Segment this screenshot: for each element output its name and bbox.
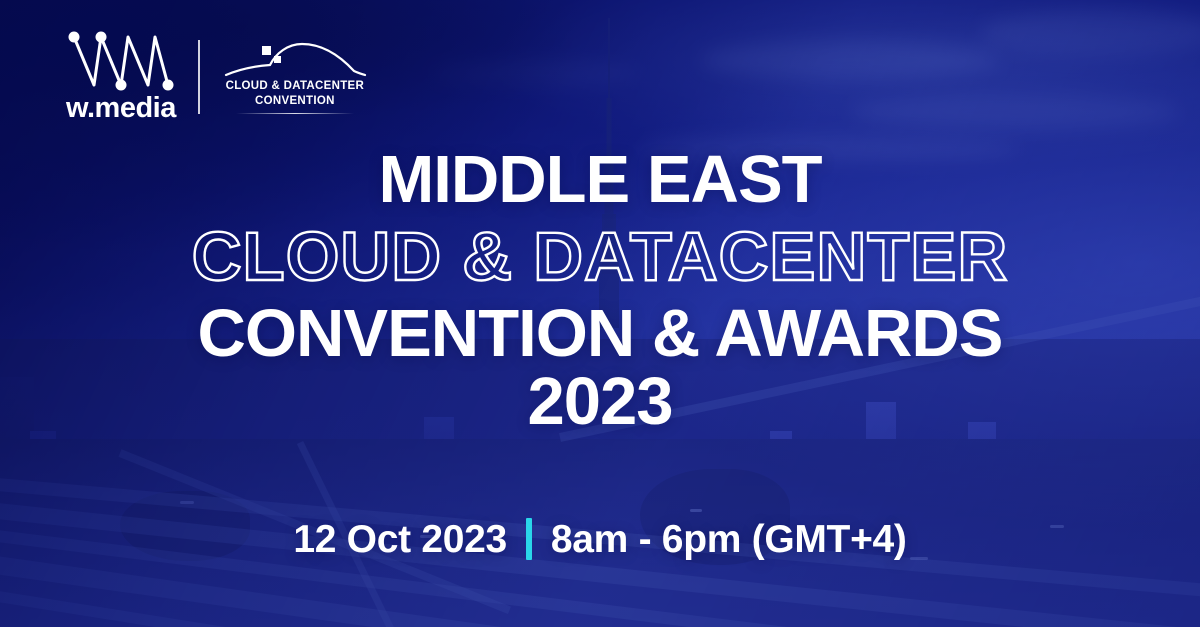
wave-signal-logo-icon (67, 30, 175, 92)
event-time: 8am - 6pm (GMT+4) (551, 520, 907, 559)
convention-logo-rule (236, 113, 354, 114)
convention-logo-line1: CLOUD & DATACENTER (226, 79, 365, 93)
hero-title-block: MIDDLE EAST CLOUD & DATACENTER CONVENTIO… (0, 147, 1200, 436)
datetime-separator-bar (526, 518, 532, 560)
event-datetime-row: 12 Oct 2023 8am - 6pm (GMT+4) (0, 518, 1200, 560)
hero-line-1: MIDDLE EAST (0, 147, 1200, 213)
event-date: 12 Oct 2023 (293, 520, 507, 559)
wmedia-wordmark: w.media (66, 94, 176, 123)
event-banner: w.media CLOUD & DATACENTER CONVENTION MI… (0, 0, 1200, 627)
hero-line-2-outlined: CLOUD & DATACENTER (0, 221, 1200, 293)
convention-logo-line2: CONVENTION (255, 94, 335, 108)
hero-line-4-year: 2023 (0, 369, 1200, 435)
logo-bar: w.media CLOUD & DATACENTER CONVENTION (66, 30, 368, 123)
cloud-arc-logo-icon (222, 39, 368, 79)
wmedia-logo[interactable]: w.media (66, 30, 176, 123)
convention-logo[interactable]: CLOUD & DATACENTER CONVENTION (222, 39, 368, 114)
logo-divider (198, 40, 200, 114)
hero-line-3: CONVENTION & AWARDS (0, 301, 1200, 367)
